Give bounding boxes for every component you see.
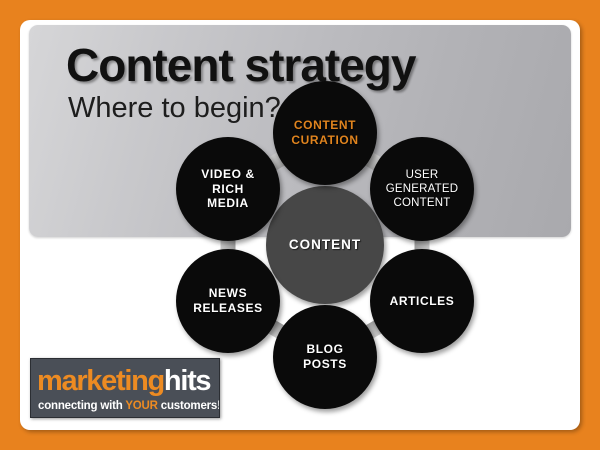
logo-wordmark: marketinghits — [37, 365, 210, 398]
diagram-node-label-articles: ARTICLES — [384, 294, 461, 309]
diagram-node-label-user-generated: USERGENERATEDCONTENT — [380, 168, 465, 210]
diagram-node-label-news-releases: NEWSRELEASES — [187, 286, 268, 315]
diagram-node-label-content-curation: CONTENTCURATION — [285, 118, 364, 147]
diagram-node-articles[interactable]: ARTICLES — [370, 249, 474, 353]
diagram-node-label-blog-posts: BLOGPOSTS — [297, 342, 353, 371]
diagram-center-node[interactable]: CONTENT — [266, 186, 384, 304]
diagram-node-blog-posts[interactable]: BLOGPOSTS — [273, 305, 377, 409]
diagram-node-content-curation[interactable]: CONTENTCURATION — [273, 81, 377, 185]
logo-word-marketing: marketing — [37, 365, 164, 397]
diagram-node-video-rich-media[interactable]: VIDEO &RICHMEDIA — [176, 137, 280, 241]
marketinghits-logo[interactable]: marketinghits connecting with YOUR custo… — [30, 358, 220, 418]
logo-tagline: connecting with YOUR customers! — [38, 400, 220, 412]
logo-word-hits: hits — [164, 365, 210, 397]
logo-tagline-accent: YOUR — [125, 400, 157, 412]
diagram-node-news-releases[interactable]: NEWSRELEASES — [176, 249, 280, 353]
slide-canvas: Content strategy Where to begin? CONTENT… — [0, 0, 600, 450]
diagram-node-label-video-rich-media: VIDEO &RICHMEDIA — [195, 167, 261, 211]
diagram-center-label: CONTENT — [283, 237, 367, 253]
logo-tagline-part2: customers! — [158, 400, 220, 412]
logo-tagline-part1: connecting with — [38, 400, 125, 412]
slide-card: Content strategy Where to begin? CONTENT… — [20, 20, 580, 430]
diagram-node-user-generated[interactable]: USERGENERATEDCONTENT — [370, 137, 474, 241]
